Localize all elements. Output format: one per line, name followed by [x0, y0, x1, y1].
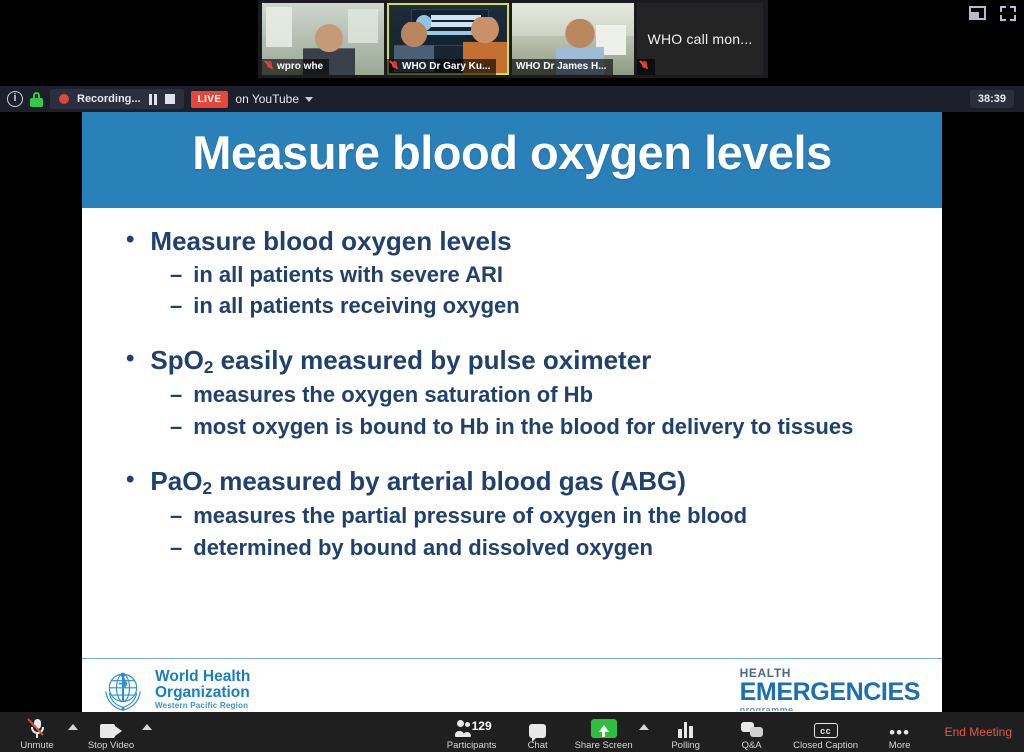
slide-bullet-secondary: – measures the oxygen saturation of Hb	[170, 382, 916, 408]
bullet-text-compound: SpO2 easily measured by pulse oximeter	[150, 345, 651, 377]
who-region-line: Western Pacific Region	[155, 702, 250, 710]
share-options-chevron[interactable]	[639, 712, 651, 752]
live-badge: LIVE	[191, 91, 229, 108]
slide-footer: World Health Organization Western Pacifi…	[82, 658, 942, 720]
chat-button[interactable]: Chat	[507, 712, 569, 752]
toolbar-item-label: Stop Video	[88, 740, 134, 751]
meeting-status-bar: i Recording... LIVE on YouTube	[0, 86, 1024, 112]
who-emblem-icon	[100, 668, 146, 712]
dash-icon: –	[170, 414, 182, 440]
toolbar-item-label: More	[889, 740, 911, 751]
who-line-1: World Health	[155, 669, 250, 685]
chat-icon	[529, 719, 546, 738]
bullet-text-pre: PaO	[150, 466, 202, 496]
bullet-text: Measure blood oxygen levels	[150, 226, 511, 257]
zoom-meeting-window: wpro whe WHO Dr Gary Ku... WHO Dr James	[0, 0, 1024, 752]
toolbar-item-label: Polling	[671, 740, 700, 751]
window-controls	[969, 6, 1016, 21]
slide-bullet-primary: • PaO2 measured by arterial blood gas (A…	[126, 466, 916, 498]
bullet-dot-icon: •	[126, 345, 134, 373]
chevron-up-icon	[142, 724, 152, 730]
polling-icon	[678, 719, 693, 738]
participants-icon: 129	[455, 719, 489, 738]
record-dot-icon	[59, 94, 69, 104]
more-glyph: •••	[889, 728, 910, 738]
qa-icon	[741, 719, 763, 738]
bullet-text-subscript: 2	[204, 357, 214, 377]
bullet-text: most oxygen is bound to Hb in the blood …	[193, 414, 853, 440]
dash-icon: –	[170, 293, 182, 319]
he-line-2: EMERGENCIES	[740, 680, 920, 705]
chevron-up-icon	[639, 724, 649, 730]
more-icon: •••	[889, 719, 910, 738]
fullscreen-icon[interactable]	[1000, 6, 1016, 21]
shared-slide: Measure blood oxygen levels • Measure bl…	[82, 96, 942, 720]
tile-name: WHO call mon...	[648, 31, 753, 47]
camera-icon	[100, 719, 122, 738]
participants-button[interactable]: 129 Participants	[441, 712, 503, 752]
end-meeting-button[interactable]: End Meeting	[945, 725, 1012, 739]
toolbar-item-label: Chat	[528, 740, 548, 751]
toolbar-center-group: 129 Participants Chat Share Screen	[154, 712, 931, 752]
health-emergencies-logo: HEALTH EMERGENCIES programme	[740, 667, 920, 713]
toolbar-item-label: Closed Caption	[793, 740, 858, 751]
tile-label: WHO Dr James H...	[512, 59, 613, 75]
tile-label	[637, 59, 655, 75]
cc-glyph: cc	[814, 723, 838, 738]
slide-bullet-secondary: – most oxygen is bound to Hb in the bloo…	[170, 414, 916, 440]
chevron-down-icon	[305, 97, 313, 102]
tile-label: WHO Dr Gary Ku...	[387, 59, 496, 75]
recording-label: Recording...	[77, 93, 141, 105]
audio-options-chevron[interactable]	[68, 712, 80, 752]
meeting-toolbar: Unmute Stop Video 129 Participants	[0, 712, 1024, 752]
mic-muted-icon	[266, 61, 274, 72]
tile-name: wpro whe	[277, 61, 323, 72]
bullet-text-pre: SpO	[150, 345, 203, 375]
bullet-dot-icon: •	[126, 226, 134, 254]
bullet-dot-icon: •	[126, 466, 134, 494]
bullet-text-post: measured by arterial blood gas (ABG)	[212, 466, 686, 496]
slide-bullet-secondary: – in all patients with severe ARI	[170, 262, 916, 288]
participants-count: 129	[472, 719, 492, 733]
bullet-text: determined by bound and dissolved oxygen	[193, 535, 653, 561]
slide-bullet-secondary: – determined by bound and dissolved oxyg…	[170, 535, 916, 561]
tile-name: WHO Dr James H...	[516, 61, 607, 72]
video-tile-who-call-mon[interactable]: WHO call mon...	[637, 3, 763, 75]
tile-label: wpro whe	[262, 59, 329, 75]
dash-icon: –	[170, 382, 182, 408]
closed-caption-button[interactable]: cc Closed Caption	[787, 712, 865, 752]
toolbar-right-group: End Meeting	[939, 725, 1024, 739]
dash-icon: –	[170, 503, 182, 529]
slide-bullet-primary: • SpO2 easily measured by pulse oximeter	[126, 345, 916, 377]
stream-target-label: on YouTube	[235, 92, 299, 106]
who-logo: World Health Organization Western Pacifi…	[100, 668, 250, 712]
slide-title: Measure blood oxygen levels	[192, 125, 832, 180]
stop-video-button[interactable]: Stop Video	[80, 712, 142, 752]
bullet-text: measures the partial pressure of oxygen …	[193, 503, 747, 529]
more-button[interactable]: ••• More	[869, 712, 931, 752]
slide-bullet-secondary: – measures the partial pressure of oxyge…	[170, 503, 916, 529]
video-tile-who-dr-gary-ku[interactable]: WHO Dr Gary Ku...	[387, 3, 509, 75]
bullet-text-post: easily measured by pulse oximeter	[213, 345, 651, 375]
tile-name: WHO Dr Gary Ku...	[402, 61, 490, 72]
polling-button[interactable]: Polling	[655, 712, 717, 752]
bullet-text-compound: PaO2 measured by arterial blood gas (ABG…	[150, 466, 685, 498]
slide-bullet-group-1: • Measure blood oxygen levels – in all p…	[112, 226, 916, 319]
toolbar-item-label: Participants	[447, 740, 497, 751]
bullet-text: measures the oxygen saturation of Hb	[193, 382, 593, 408]
microphone-muted-icon	[30, 719, 45, 738]
toolbar-item-label: Q&A	[742, 740, 762, 751]
pip-view-icon[interactable]	[969, 6, 986, 20]
mic-muted-icon	[391, 61, 399, 72]
slide-body: • Measure blood oxygen levels – in all p…	[82, 208, 942, 561]
stop-recording-button[interactable]	[165, 94, 175, 104]
share-screen-icon	[591, 719, 617, 738]
dash-icon: –	[170, 262, 182, 288]
qa-button[interactable]: Q&A	[721, 712, 783, 752]
slide-bullet-group-3: • PaO2 measured by arterial blood gas (A…	[112, 466, 916, 561]
unmute-button[interactable]: Unmute	[6, 712, 68, 752]
recording-controls: Recording...	[50, 89, 184, 109]
tile-background-window	[266, 7, 292, 47]
dash-icon: –	[170, 535, 182, 561]
bullet-text-subscript: 2	[202, 478, 212, 498]
slide-bullet-primary: • Measure blood oxygen levels	[126, 226, 916, 257]
bullet-text: in all patients with severe ARI	[193, 262, 503, 288]
toolbar-item-label: Share Screen	[575, 740, 633, 751]
stream-target-dropdown[interactable]: on YouTube	[235, 92, 313, 106]
he-line-3: programme	[740, 706, 920, 711]
slide-header: Measure blood oxygen levels	[82, 96, 942, 208]
toolbar-left-group: Unmute Stop Video	[6, 712, 154, 752]
share-screen-button[interactable]: Share Screen	[573, 712, 635, 752]
who-line-2: Organization	[155, 685, 250, 701]
video-filmstrip: wpro whe WHO Dr Gary Ku... WHO Dr James	[258, 0, 768, 78]
slide-bullet-secondary: – in all patients receiving oxygen	[170, 293, 916, 319]
lock-icon[interactable]	[30, 92, 43, 107]
bullet-text: in all patients receiving oxygen	[193, 293, 519, 319]
video-options-chevron[interactable]	[142, 712, 154, 752]
he-line-1: HEALTH	[740, 667, 920, 679]
pause-recording-button[interactable]	[149, 94, 157, 105]
video-tile-who-dr-james-h[interactable]: WHO Dr James H...	[512, 3, 634, 75]
closed-caption-icon: cc	[814, 719, 838, 738]
toolbar-item-label: Unmute	[20, 740, 53, 751]
slide-bullet-group-2: • SpO2 easily measured by pulse oximeter…	[112, 345, 916, 440]
info-icon[interactable]: i	[7, 91, 23, 107]
mic-muted-icon	[641, 61, 649, 72]
video-tile-wpro-whe[interactable]: wpro whe	[262, 3, 384, 75]
who-logo-text: World Health Organization Western Pacifi…	[155, 669, 250, 710]
chevron-up-icon	[68, 724, 78, 730]
meeting-timer: 38:39	[970, 90, 1014, 108]
